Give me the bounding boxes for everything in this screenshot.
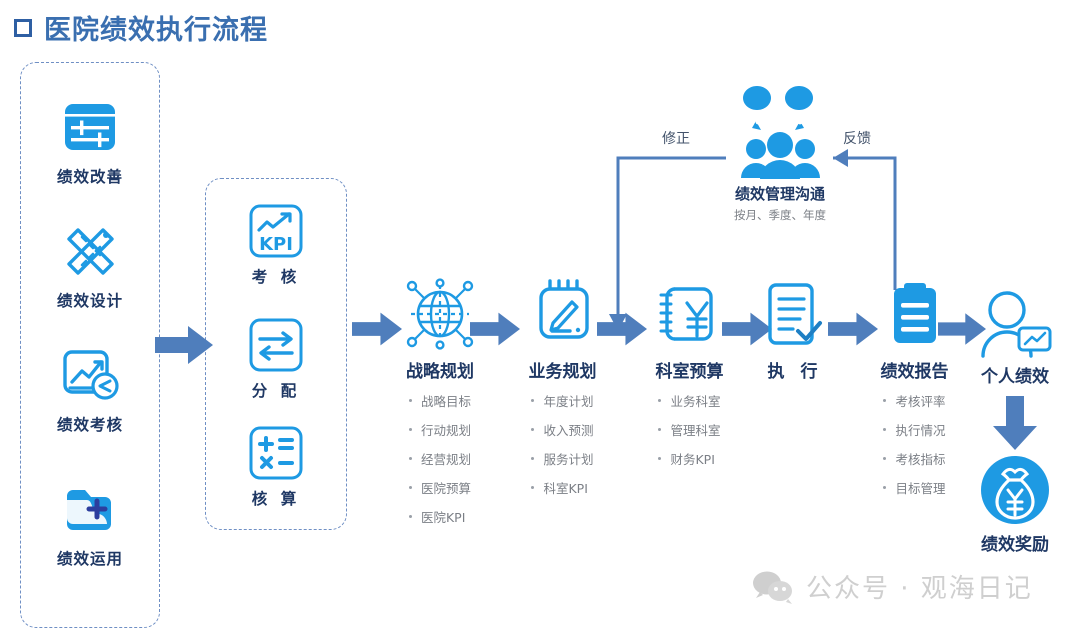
list-item: 医院预算: [409, 478, 471, 497]
bullet-dot: [409, 428, 412, 431]
left-item-label: 绩效设计: [20, 289, 160, 311]
page-title: 医院绩效执行流程: [14, 8, 268, 47]
list-item-label: 考核指标: [895, 449, 945, 468]
left-item-performance-application[interactable]: 绩效运用: [20, 474, 160, 569]
list-item: 年度计划: [531, 391, 593, 410]
square-outline-icon: [14, 19, 32, 37]
bullet-dot: [883, 486, 886, 489]
bullet-dot: [531, 399, 534, 402]
mid-item-label: 考 核: [205, 265, 347, 287]
list-item-label: 执行情况: [895, 420, 945, 439]
left-item-performance-appraisal[interactable]: 绩效考核: [20, 340, 160, 435]
list-item-label: 经营规划: [421, 449, 471, 468]
stage-bullet-list: 业务科室 管理科室 财务KPI: [658, 391, 720, 478]
bullet-dot: [883, 399, 886, 402]
list-item: 业务科室: [658, 391, 720, 410]
list-item-label: 科室KPI: [543, 478, 587, 497]
bullet-dot: [883, 457, 886, 460]
svg-text:KPI: KPI: [259, 234, 293, 255]
bullet-dot: [658, 428, 661, 431]
left-item-performance-design[interactable]: 绩效设计: [20, 216, 160, 311]
exchange-arrows-icon: [205, 314, 347, 378]
communication-title: 绩效管理沟通: [700, 183, 860, 204]
stage-title: 业务规划: [500, 357, 625, 382]
mid-item-allocation[interactable]: 分 配: [205, 314, 347, 401]
left-item-label: 绩效改善: [20, 165, 160, 187]
list-item: 收入预测: [531, 420, 593, 439]
list-item: 考核评率: [883, 391, 945, 410]
mid-item-assessment[interactable]: KPI 考 核: [205, 200, 347, 287]
left-item-label: 绩效考核: [20, 413, 160, 435]
list-item-label: 考核评率: [895, 391, 945, 410]
list-item: 行动规划: [409, 420, 471, 439]
stage-individual-performance[interactable]: 个人绩效: [945, 282, 1080, 387]
performance-communication-block[interactable]: 绩效管理沟通 按月、季度、年度: [700, 110, 860, 223]
stage-title: 绩效奖励: [945, 530, 1080, 555]
bullet-dot: [531, 428, 534, 431]
bullet-dot: [658, 457, 661, 460]
stage-title: 战略规划: [375, 357, 505, 382]
chart-review-icon: [20, 340, 160, 410]
list-item-label: 管理科室: [670, 420, 720, 439]
list-item-label: 医院预算: [421, 478, 471, 497]
mid-item-accounting[interactable]: 核 算: [205, 422, 347, 509]
kpi-chart-icon: KPI: [205, 200, 347, 264]
list-item: 服务计划: [531, 449, 593, 468]
list-item: 考核指标: [883, 449, 945, 468]
list-item: 管理科室: [658, 420, 720, 439]
page-title-text: 医院绩效执行流程: [44, 8, 268, 47]
list-item-label: 年度计划: [543, 391, 593, 410]
loop-label-correction: 修正: [662, 128, 690, 148]
list-item-label: 收入预测: [543, 420, 593, 439]
list-item: 财务KPI: [658, 449, 720, 468]
person-performance-icon: [945, 282, 1080, 360]
bullet-dot: [409, 515, 412, 518]
list-item-label: 财务KPI: [670, 449, 714, 468]
watermark-text: 公众号 · 观海日记: [806, 568, 1033, 605]
stage-bullet-list: 考核评率 执行情况 考核指标 目标管理: [883, 391, 945, 507]
bullet-dot: [409, 486, 412, 489]
stage-department-budget[interactable]: 科室预算 业务科室 管理科室 财务KPI: [627, 275, 752, 478]
list-item: 目标管理: [883, 478, 945, 497]
bullet-dot: [883, 428, 886, 431]
stage-title: 执 行: [745, 357, 845, 382]
wechat-icon: [752, 570, 794, 604]
list-item: 执行情况: [883, 420, 945, 439]
money-bag-yuan-icon: [945, 450, 1080, 528]
left-item-label: 绩效运用: [20, 547, 160, 569]
sliders-settings-icon: [20, 92, 160, 162]
stage-title: 科室预算: [627, 357, 752, 382]
list-item-label: 战略目标: [421, 391, 471, 410]
bullet-dot: [409, 457, 412, 460]
mid-item-label: 分 配: [205, 379, 347, 401]
bullet-dot: [409, 399, 412, 402]
stage-bullet-list: 年度计划 收入预测 服务计划 科室KPI: [531, 391, 593, 507]
list-item-label: 医院KPI: [421, 507, 465, 526]
ruler-pencil-icon: [20, 216, 160, 286]
folder-plus-icon: [20, 474, 160, 544]
stage-bullet-list: 战略目标 行动规划 经营规划 医院预算 医院KPI: [409, 391, 471, 536]
list-item: 科室KPI: [531, 478, 593, 497]
bullet-dot: [531, 486, 534, 489]
arrow-individual-to-reward: [991, 396, 1039, 450]
calculator-icon: [205, 422, 347, 486]
list-item: 战略目标: [409, 391, 471, 410]
bullet-dot: [531, 457, 534, 460]
list-item-label: 业务科室: [670, 391, 720, 410]
list-item: 医院KPI: [409, 507, 471, 526]
people-chat-icon: [700, 110, 860, 180]
list-item-label: 服务计划: [543, 449, 593, 468]
bullet-dot: [658, 399, 661, 402]
list-item-label: 目标管理: [895, 478, 945, 497]
communication-subtitle: 按月、季度、年度: [700, 207, 860, 223]
mid-item-label: 核 算: [205, 487, 347, 509]
stage-title: 个人绩效: [945, 362, 1080, 387]
list-item: 经营规划: [409, 449, 471, 468]
left-item-performance-improvement[interactable]: 绩效改善: [20, 92, 160, 187]
diagram-canvas: 医院绩效执行流程 绩效改善: [0, 0, 1080, 638]
list-item-label: 行动规划: [421, 420, 471, 439]
watermark: 公众号 · 观海日记: [752, 568, 1033, 605]
stage-performance-reward[interactable]: 绩效奖励: [945, 450, 1080, 555]
